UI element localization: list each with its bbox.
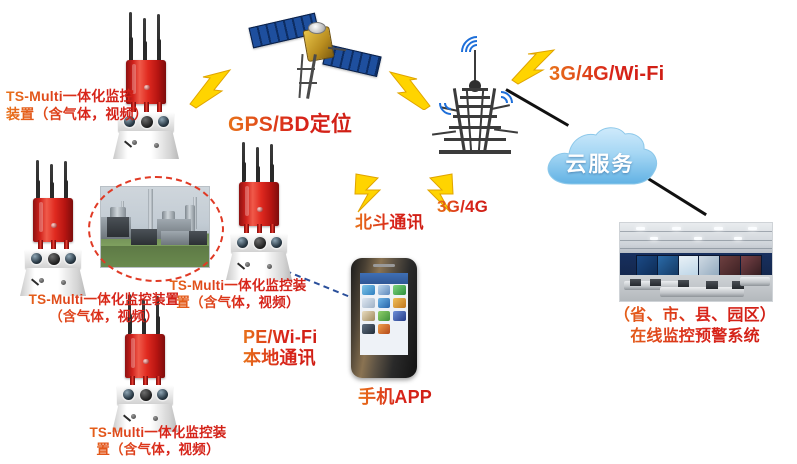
satellite-crossbar — [297, 68, 315, 70]
label-3g4g: 3G/4G — [437, 196, 488, 217]
lightning-bolt-beidou — [350, 172, 390, 214]
highlight-circle — [88, 176, 224, 282]
phone-screen[interactable] — [360, 273, 408, 355]
device-mid-left — [12, 160, 98, 300]
handheld-device[interactable] — [351, 258, 417, 378]
label-phone-app: 手机APP — [358, 386, 432, 409]
cell-tower — [428, 22, 524, 162]
app-icon[interactable] — [393, 298, 406, 308]
label-device-top-left: TS-Multi一体化监控 装置（含气体，视频） — [6, 88, 148, 123]
label-local-comm: PE/Wi-Fi 本地通讯 — [243, 327, 317, 368]
label-beidou-comm: 北斗通讯 — [355, 212, 424, 233]
phone-status-bar — [360, 273, 408, 284]
control-room-photo — [619, 222, 773, 302]
satellite-crossbar-2 — [299, 82, 317, 84]
satellite-dish — [308, 22, 326, 34]
phone-app-grid[interactable] — [362, 285, 406, 334]
label-device-bottom: TS-Multi一体化监控装 置（含气体，视频） — [68, 425, 248, 459]
phone-speaker-icon — [373, 264, 395, 267]
app-icon[interactable] — [362, 324, 375, 334]
satellite — [248, 8, 378, 108]
satellite-boom-2 — [298, 54, 303, 98]
lightning-bolt-gps-right — [382, 68, 434, 110]
diagram-canvas: 云服务 — [0, 0, 797, 464]
app-icon[interactable] — [362, 285, 375, 295]
label-3g4g-wifi: 3G/4G/Wi-Fi — [549, 62, 664, 87]
app-icon[interactable] — [393, 285, 406, 295]
label-device-mid-right: TS-Multi一体化监控装 置（含气体，视频） — [158, 278, 318, 312]
app-icon[interactable] — [378, 311, 391, 321]
refinery-photo-wrap — [88, 176, 222, 280]
label-control-center-line1: （省、市、县、园区） — [600, 306, 790, 326]
app-icon[interactable] — [378, 285, 391, 295]
label-control-center-line2: 在线监控预警系统 — [600, 327, 790, 347]
app-icon[interactable] — [393, 311, 406, 321]
cloud-label: 云服务 — [538, 148, 662, 178]
cloud-service: 云服务 — [538, 122, 662, 194]
wifi-icon-top-large — [454, 29, 499, 74]
app-icon[interactable] — [362, 311, 375, 321]
app-icon[interactable] — [378, 298, 391, 308]
app-icon[interactable] — [362, 298, 375, 308]
label-gps-positioning: GPS/BD定位 — [228, 112, 352, 138]
lightning-bolt-gps-left — [186, 68, 238, 110]
device-mid-right — [218, 142, 304, 282]
app-icon[interactable] — [378, 324, 391, 334]
app-icon[interactable] — [393, 324, 406, 334]
